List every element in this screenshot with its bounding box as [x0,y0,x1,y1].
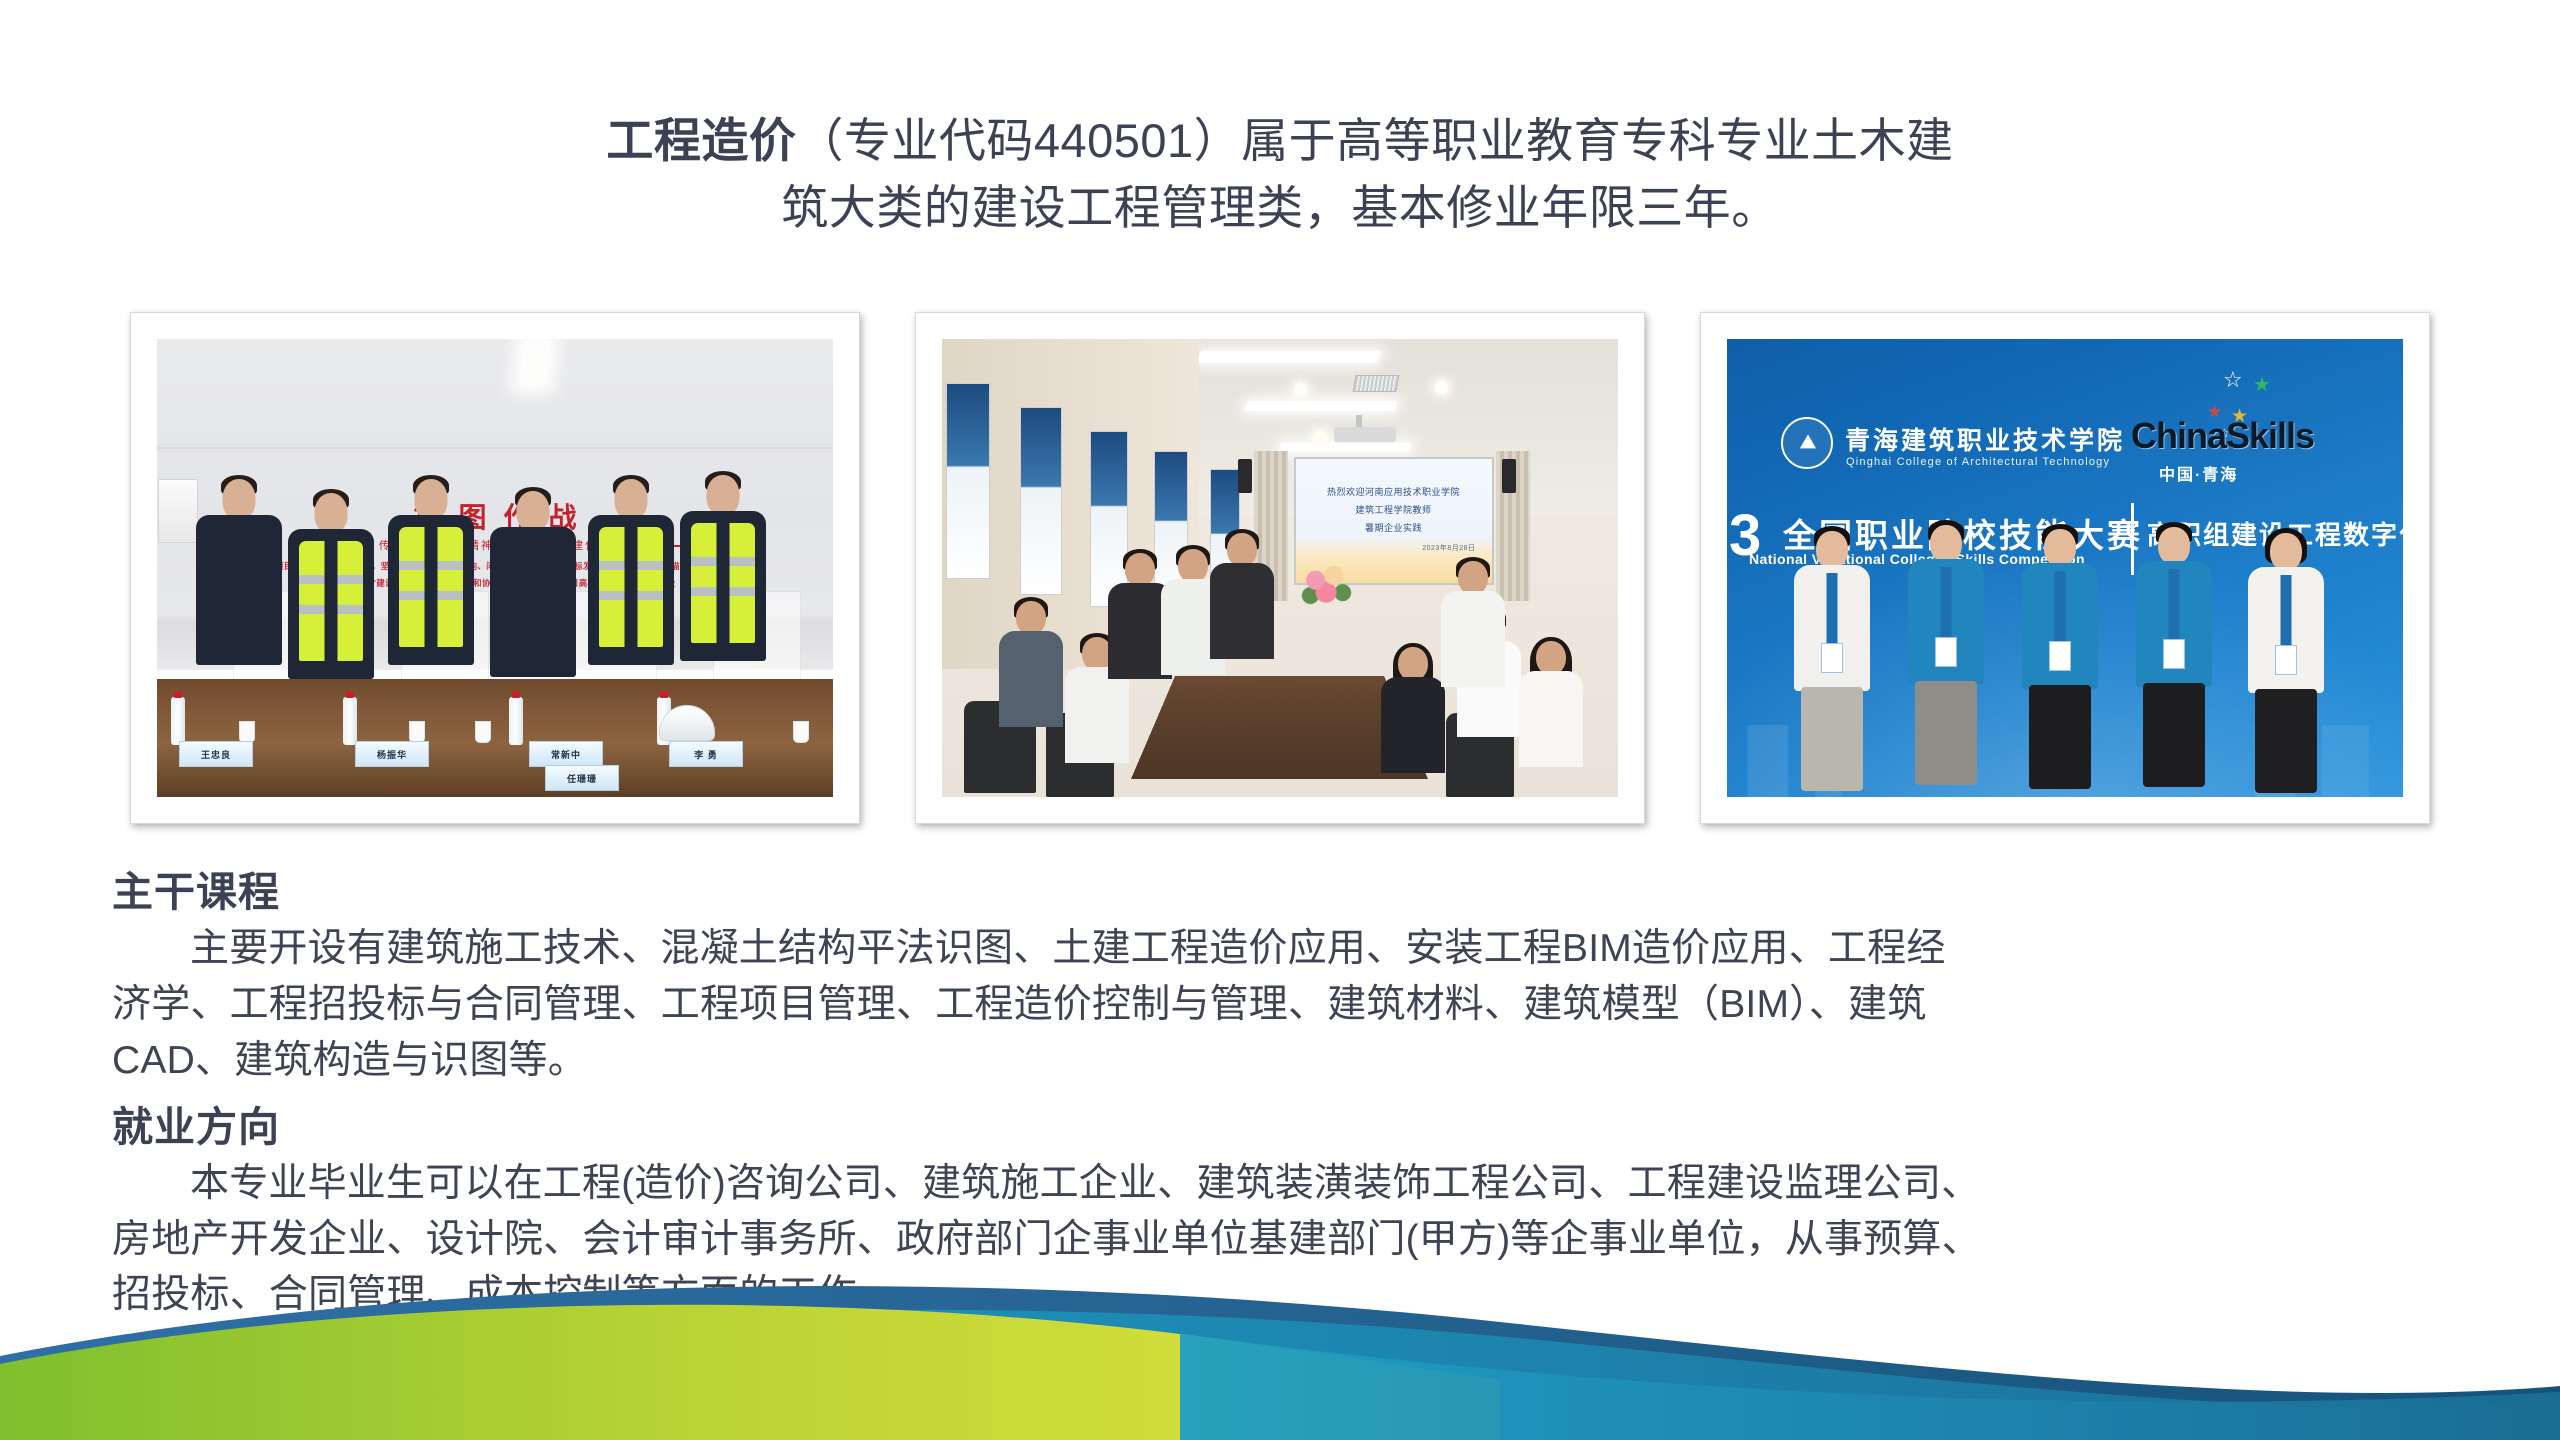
head [615,479,648,519]
title-line-1-rest: （专业代码440501）属于高等职业教育专科专业土木建 [796,114,1953,167]
attendee-figure [1448,561,1498,647]
screen-date: 2023年8月28日 [1296,543,1492,553]
water-bottle-icon [509,697,523,745]
paragraph-line: 主要开设有建筑施工技术、混凝土结构平法识图、土建工程造价应用、安装工程BIM造价… [112,921,2452,977]
torso [1065,667,1129,763]
star-icon: ★ [2253,375,2271,395]
ceiling-light-icon [1245,401,1398,411]
head [2158,527,2190,565]
lanyard [2281,575,2292,649]
paper-cup-icon [793,721,809,743]
person-figure [677,475,769,675]
lanyard [2055,571,2066,645]
page-title: 工程造价（专业代码440501）属于高等职业教育专科专业土木建 筑大类的建设工程… [460,108,2100,241]
person-figure [285,493,377,693]
star-icon: ☆ [2223,369,2243,391]
attendee-figure [998,601,1064,727]
lanyard [1941,567,1952,641]
attendee-figure [1518,641,1584,767]
head [1816,531,1848,569]
id-badge [2163,639,2185,669]
flower-bouquet-icon [1300,561,1352,609]
paper-cup-icon [409,721,425,743]
pants [2255,689,2317,793]
nameplate: 李 勇 [669,741,743,767]
title-line-1: 工程造价（专业代码440501）属于高等职业教育专科专业土木建 [460,108,2100,175]
line-text: 本专业毕业生可以在工程(造价)咨询公司、建筑施工企业、建筑装潢装饰工程公司、工程… [190,1162,1980,1205]
vest-opening [425,527,438,647]
id-badge [1935,637,1957,667]
attendee-figure [1380,647,1446,773]
nameplate: 任珊珊 [545,765,619,791]
head [415,479,448,519]
pants [2029,685,2091,789]
id-badge [1821,643,1843,673]
screen-topic-line: 暑期企业实践 [1296,521,1492,534]
photo-frame-3[interactable]: ☆ ★ ★ ★ ☆ ⛰ 青海建筑职业技术学院 Qinghai College o… [1700,312,2430,824]
vest-opening [717,523,730,643]
paragraph-line: 本专业毕业生可以在工程(造价)咨询公司、建筑施工企业、建筑装潢装饰工程公司、工程… [112,1156,2452,1212]
projector-icon [1334,427,1396,442]
footer-wave-decoration [0,1260,2560,1440]
line-text: 主要开设有建筑施工技术、混凝土结构平法识图、土建工程造价应用、安装工程BIM造价… [190,927,1946,970]
title-major-name: 工程造价 [606,114,796,167]
photo-gallery: 挂图作战 传承“二三铁军”精神，担当板块组建使命 紧抓项目建设和重点任务计划，坚… [130,312,2430,824]
head [1458,561,1488,595]
screen-welcome-line: 热烈欢迎河南应用技术职业学院 [1296,485,1492,498]
head [1125,553,1155,587]
school-name-cn: 青海建筑职业技术学院 [1845,421,2125,457]
paragraph-line: CAD、建筑构造与识图等。 [112,1033,2452,1089]
head [2044,529,2076,567]
torso-uniform [490,527,576,677]
head [223,479,256,519]
head [1178,549,1208,583]
id-badge [2049,641,2071,671]
paper-cup-icon [475,721,491,743]
school-name-en: Qinghai College of Architectural Technol… [1846,456,2110,468]
ceiling-light-icon [1196,351,1381,363]
head [2270,533,2302,571]
downlight-icon [1294,383,1307,396]
head [1398,647,1428,681]
paragraph-line: 济学、工程招投标与合同管理、工程项目管理、工程造价控制与管理、建筑材料、建筑模型… [112,977,2452,1033]
lanyard [1827,573,1838,647]
lanyard [2169,569,2180,643]
air-vent-icon [1353,375,1400,392]
person-figure [193,479,285,679]
photo-frame-2[interactable]: 热烈欢迎河南应用技术职业学院 建筑工程学院教师 暑期企业实践 2023年8月28… [915,312,1645,824]
pants [2143,683,2205,787]
wall-poster [946,383,990,579]
student-figure [1903,525,1989,783]
water-bottle-icon [171,697,185,745]
ceiling-light-icon [520,341,551,385]
person-figure [487,491,579,691]
ceiling-light-icon [1279,443,1411,452]
chinaskills-location: 中国·青海 [2159,461,2238,485]
head [1930,525,1962,563]
wall-seam [157,447,833,449]
chinaskills-logo: ChinaSkills [2131,415,2314,457]
water-bottle-icon [343,697,357,745]
section-heading-core-courses: 主干课程 [112,866,2452,919]
head [315,493,348,533]
nameplate: 常新中 [529,741,603,767]
attendee-figure [1218,533,1266,615]
conference-table [157,679,833,797]
head [1536,641,1566,675]
head [1016,601,1046,635]
emblem-glyph: ⛰ [1800,432,1814,454]
student-figure [2243,533,2329,791]
downlight-icon [1314,431,1327,444]
photo-skills-competition: ☆ ★ ★ ★ ☆ ⛰ 青海建筑职业技术学院 Qinghai College o… [1727,339,2403,797]
section-heading-employment: 就业方向 [112,1101,2452,1154]
person-figure [585,479,677,679]
nameplate: 杨振华 [355,741,429,767]
pants [1801,687,1863,791]
id-badge [2275,645,2297,675]
paper-cup-icon [239,721,255,743]
nameplate: 王忠良 [179,741,253,767]
student-figure [1789,531,1875,789]
wave-svg [0,1260,2560,1440]
head [1227,533,1257,567]
wall-poster [1020,407,1062,595]
photo-frame-1[interactable]: 挂图作战 传承“二三铁军”精神，担当板块组建使命 紧抓项目建设和重点任务计划，坚… [130,312,860,824]
speaker-icon [1502,459,1516,493]
person-figure [385,479,477,679]
attendee-figure [1114,553,1166,645]
vest-opening [625,527,638,647]
speaker-icon [1238,459,1252,493]
torso [1381,677,1445,773]
section-body-core-courses: 主要开设有建筑施工技术、混凝土结构平法识图、土建工程造价应用、安装工程BIM造价… [112,921,2452,1088]
student-figure [2017,529,2103,787]
school-emblem-icon: ⛰ [1781,417,1833,469]
title-line-2: 筑大类的建设工程管理类，基本修业年限三年。 [460,175,2100,242]
torso [1519,671,1583,767]
torso [1441,591,1505,687]
torso [1210,563,1274,659]
pants [1915,681,1977,785]
screen-org-line: 建筑工程学院教师 [1296,503,1492,516]
student-figure [2131,527,2217,785]
head [517,491,550,531]
photo-conference-room: 热烈欢迎河南应用技术职业学院 建筑工程学院教师 暑期企业实践 2023年8月28… [942,339,1618,797]
head [707,475,740,515]
torso [999,631,1063,727]
vest-opening [325,541,338,661]
photo-group-meeting-banner: 挂图作战 传承“二三铁军”精神，担当板块组建使命 紧抓项目建设和重点任务计划，坚… [157,339,833,797]
torso-uniform [196,515,282,665]
content-body: 主干课程 主要开设有建筑施工技术、混凝土结构平法识图、土建工程造价应用、安装工程… [112,866,2452,1323]
